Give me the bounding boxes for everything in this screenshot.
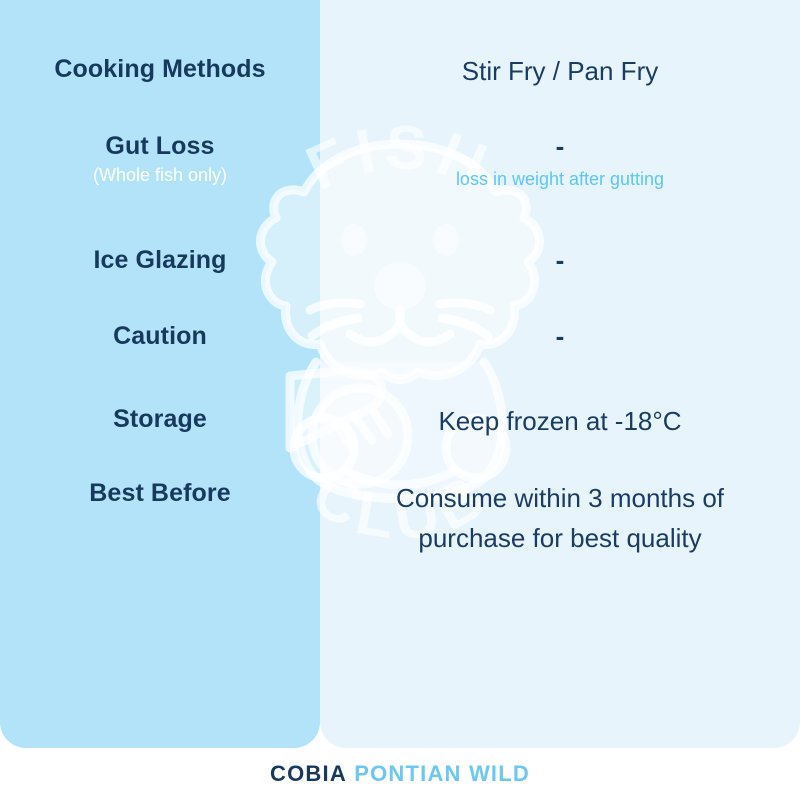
- spec-value-cell: - loss in weight after gutting: [320, 131, 800, 191]
- spec-value: Keep frozen at -18°C: [344, 404, 776, 438]
- table-row: Caution -: [0, 321, 800, 351]
- spec-value: -: [344, 131, 776, 161]
- table-row: Ice Glazing -: [0, 245, 800, 275]
- spec-label: Gut Loss: [22, 131, 298, 161]
- table-row: Gut Loss (Whole fish only) - loss in wei…: [0, 131, 800, 191]
- footer-brand: COBIA PONTIAN WILD: [0, 748, 800, 800]
- spec-label-cell: Caution: [0, 321, 320, 351]
- spec-label: Ice Glazing: [22, 245, 298, 275]
- spec-value-cell: Consume within 3 months of purchase for …: [320, 478, 800, 558]
- spec-value-cell: -: [320, 245, 800, 275]
- spec-value-note: loss in weight after gutting: [344, 167, 776, 191]
- spec-value-cell: -: [320, 321, 800, 351]
- table-row: Best Before Consume within 3 months of p…: [0, 478, 800, 558]
- spec-value: Consume within 3 months of purchase for …: [344, 478, 776, 558]
- spec-value: -: [344, 321, 776, 351]
- spec-label-cell: Gut Loss (Whole fish only): [0, 131, 320, 187]
- spec-sub-label: (Whole fish only): [22, 163, 298, 187]
- spec-value-cell: Keep frozen at -18°C: [320, 404, 800, 438]
- spec-label-cell: Ice Glazing: [0, 245, 320, 275]
- spec-value-cell: Stir Fry / Pan Fry: [320, 54, 800, 88]
- spec-value: -: [344, 245, 776, 275]
- spec-label-cell: Cooking Methods: [0, 54, 320, 84]
- table-row: Storage Keep frozen at -18°C: [0, 404, 800, 438]
- spec-label-cell: Best Before: [0, 478, 320, 508]
- spec-table: Cooking Methods Stir Fry / Pan Fry Gut L…: [0, 0, 800, 748]
- spec-label: Storage: [22, 404, 298, 434]
- spec-label: Caution: [22, 321, 298, 351]
- spec-label-cell: Storage: [0, 404, 320, 434]
- table-row: Cooking Methods Stir Fry / Pan Fry: [0, 54, 800, 88]
- product-spec-card: FISH CLUB: [0, 0, 800, 800]
- brand-secondary-text: PONTIAN WILD: [354, 761, 530, 786]
- spec-label: Best Before: [22, 478, 298, 508]
- spec-value: Stir Fry / Pan Fry: [344, 54, 776, 88]
- spec-label: Cooking Methods: [22, 54, 298, 84]
- brand-primary-text: COBIA: [270, 761, 347, 786]
